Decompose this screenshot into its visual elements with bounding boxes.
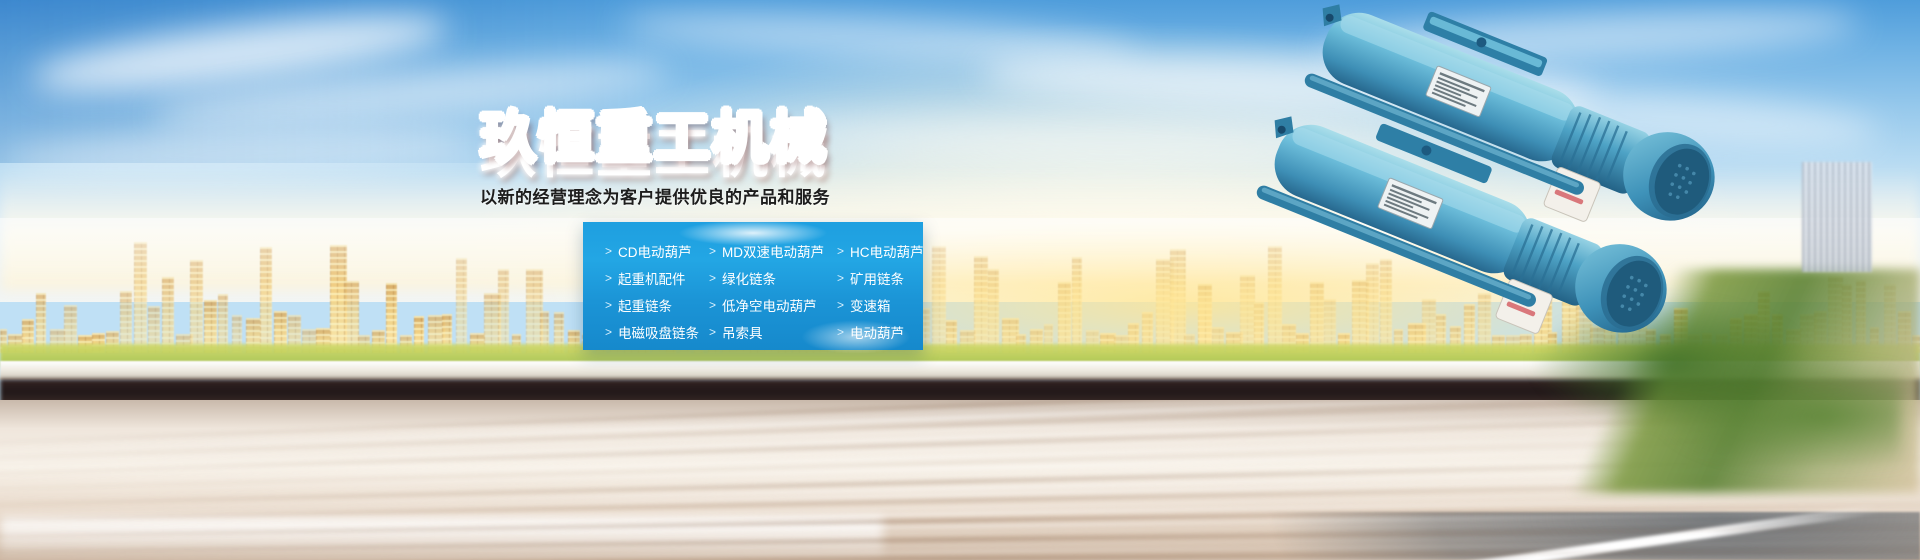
skyline-building — [134, 242, 147, 353]
chevron-right-icon: > — [709, 326, 716, 338]
headline-block: 玖恒重工机械 玖恒重工机械 以新的经营理念为客户提供优良的产品和服务 — [480, 108, 840, 208]
product-category-item[interactable]: >吊索具 — [709, 322, 837, 342]
product-category-label: MD双速电动葫芦 — [722, 241, 824, 261]
product-category-item[interactable]: >HC电动葫芦 — [837, 241, 924, 261]
product-category-label: 绿化链条 — [722, 268, 776, 288]
product-category-label: HC电动葫芦 — [850, 241, 924, 261]
skyline-building — [498, 269, 509, 353]
chevron-right-icon: > — [605, 299, 612, 311]
banner-subtitle: 以新的经营理念为客户提供优良的产品和服务 — [480, 183, 840, 208]
banner-title: 玖恒重工机械 — [480, 108, 840, 167]
chevron-right-icon: > — [837, 326, 844, 338]
product-category-item[interactable]: >矿用链条 — [837, 268, 924, 288]
chevron-right-icon: > — [709, 272, 716, 284]
product-category-item[interactable]: >电动葫芦 — [837, 322, 924, 342]
skyline-building — [1058, 282, 1071, 353]
promo-banner: 玖恒重工机械 玖恒重工机械 以新的经营理念为客户提供优良的产品和服务 >CD电动… — [0, 0, 1920, 560]
product-category-label: 电动葫芦 — [850, 322, 904, 342]
product-category-item[interactable]: >低净空电动葫芦 — [709, 295, 837, 315]
product-category-list: >CD电动葫芦>MD双速电动葫芦>HC电动葫芦>起重机配件>绿化链条>矿用链条>… — [605, 237, 923, 345]
product-category-item[interactable]: >起重链条 — [605, 295, 709, 315]
skyline-building — [1072, 257, 1082, 353]
product-category-item[interactable]: >电磁吸盘链条 — [605, 322, 709, 342]
skyline-building — [932, 246, 946, 352]
product-category-label: CD电动葫芦 — [618, 241, 692, 261]
chevron-right-icon: > — [837, 245, 844, 257]
product-category-item[interactable]: >起重机配件 — [605, 268, 709, 288]
product-category-panel: >CD电动葫芦>MD双速电动葫芦>HC电动葫芦>起重机配件>绿化链条>矿用链条>… — [583, 222, 923, 350]
chevron-right-icon: > — [837, 272, 844, 284]
chevron-right-icon: > — [605, 272, 612, 284]
product-category-item[interactable]: >变速箱 — [837, 295, 924, 315]
product-category-label: 起重机配件 — [618, 268, 686, 288]
skyline-building — [386, 283, 397, 353]
product-category-label: 电磁吸盘链条 — [618, 322, 699, 342]
chevron-right-icon: > — [837, 299, 844, 311]
product-category-label: 吊索具 — [722, 322, 763, 342]
product-category-label: 矿用链条 — [850, 268, 904, 288]
skyline-building — [974, 256, 988, 353]
skyline-building — [190, 260, 203, 353]
chevron-right-icon: > — [709, 299, 716, 311]
chevron-right-icon: > — [709, 245, 716, 257]
product-category-item[interactable]: >MD双速电动葫芦 — [709, 241, 837, 261]
chevron-right-icon: > — [605, 326, 612, 338]
product-category-item[interactable]: >绿化链条 — [709, 268, 837, 288]
product-category-label: 低净空电动葫芦 — [722, 295, 817, 315]
skyline-building — [162, 277, 174, 352]
electric-hoist-group — [1260, 0, 1920, 560]
skyline-building — [344, 281, 359, 353]
product-category-label: 变速箱 — [850, 295, 891, 315]
product-category-item[interactable]: >CD电动葫芦 — [605, 241, 709, 261]
skyline-building — [988, 269, 999, 353]
skyline-building — [456, 258, 467, 353]
chevron-right-icon: > — [605, 245, 612, 257]
skyline-building — [260, 247, 272, 353]
product-category-label: 起重链条 — [618, 295, 672, 315]
